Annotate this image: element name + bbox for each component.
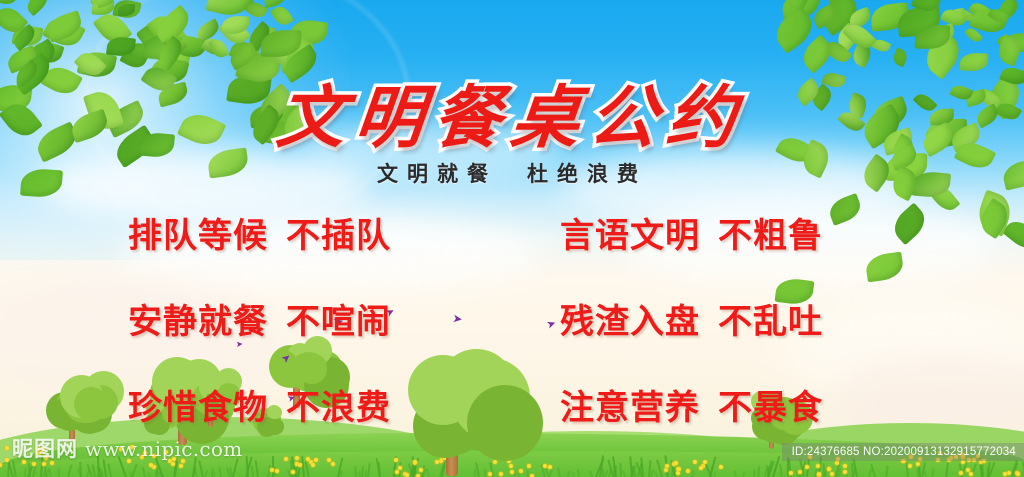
- flower-icon: [519, 469, 523, 473]
- flower-icon: [543, 464, 547, 468]
- slogan-main: 残渣入盘: [560, 303, 700, 341]
- watermark-id-line: ID:24376685 NO:20200913132915772034: [782, 443, 1024, 461]
- flower-icon: [548, 465, 552, 469]
- slogan-main: 言语文明: [560, 217, 700, 255]
- flower-icon: [5, 458, 9, 462]
- grass-blade: [514, 471, 516, 477]
- flower-icon: [676, 471, 680, 475]
- tree-foliage-blob: [74, 387, 108, 421]
- slogan-item: 安静就餐不喧闹: [128, 294, 502, 343]
- flower-icon: [665, 464, 669, 468]
- slogan-item: 排队等候不插队: [128, 208, 502, 257]
- flower-icon: [835, 461, 839, 465]
- flower-icon: [843, 464, 847, 468]
- slogan-main: 注意营养: [560, 389, 700, 427]
- watermark-site-url: www.nipic.com: [85, 437, 242, 461]
- flower-icon: [816, 464, 820, 468]
- cartoon-tree: [40, 370, 105, 442]
- flower-icon: [805, 465, 809, 469]
- grass-blade: [58, 468, 60, 477]
- slogan-sub: 不喧闹: [286, 303, 391, 341]
- flower-icon: [677, 467, 681, 471]
- flower-icon: [719, 465, 723, 469]
- flower-icon: [798, 470, 802, 474]
- flower-icon: [674, 461, 678, 465]
- flower-icon: [843, 470, 847, 474]
- flower-icon: [311, 463, 315, 467]
- flower-icon: [693, 460, 697, 464]
- slogan-item: 注意营养不暴食: [522, 380, 896, 429]
- flower-icon: [686, 469, 690, 473]
- flower-icon: [789, 471, 793, 475]
- flower-icon: [830, 472, 834, 476]
- flower-icon: [291, 470, 295, 474]
- grass-blade: [340, 470, 342, 477]
- flower-icon: [916, 462, 920, 466]
- flower-icon: [314, 458, 318, 462]
- flower-icon: [5, 446, 9, 450]
- flower-icon: [527, 464, 531, 468]
- slogan-main: 排队等候: [128, 217, 268, 255]
- grass-blade: [714, 471, 716, 477]
- flower-icon: [270, 468, 274, 472]
- flower-icon: [179, 464, 183, 468]
- flower-icon: [664, 468, 668, 472]
- slogan-sub: 不粗鲁: [718, 217, 823, 255]
- flower-icon: [908, 464, 912, 468]
- flower-icon: [969, 472, 973, 476]
- slogan-sub: 不插队: [286, 217, 391, 255]
- flower-icon: [298, 463, 302, 467]
- flower-icon: [959, 471, 963, 475]
- flower-icon: [284, 457, 288, 461]
- flower-icon: [295, 456, 299, 460]
- slogan-grid: 排队等候不插队 言语文明不粗鲁 安静就餐不喧闹 残渣入盘不乱吐 珍惜食物不浪费 …: [128, 208, 896, 429]
- flower-icon: [817, 472, 821, 476]
- grass-blade: [272, 456, 274, 477]
- flower-icon: [306, 457, 310, 461]
- slogan-item: 言语文明不粗鲁: [522, 208, 896, 257]
- flower-icon: [331, 462, 335, 466]
- grass-blade: [823, 463, 825, 477]
- slogan-item: 残渣入盘不乱吐: [522, 294, 896, 343]
- title-block: 文明餐桌公约: [0, 62, 1024, 161]
- watermark-site: 昵图网 www.nipic.com: [12, 433, 242, 463]
- slogan-main: 珍惜食物: [128, 389, 268, 427]
- poster-subtitle: 文明就餐 杜绝浪费: [0, 158, 1024, 188]
- slogan-item: 珍惜食物不浪费: [128, 380, 502, 429]
- flower-icon: [149, 463, 153, 467]
- flower-icon: [1003, 472, 1007, 476]
- poster-title: 文明餐桌公约: [273, 62, 751, 161]
- flower-icon: [275, 469, 279, 473]
- flower-icon: [827, 467, 831, 471]
- watermark-site-name: 昵图网: [12, 433, 78, 463]
- flower-icon: [1016, 472, 1020, 476]
- slogan-sub: 不浪费: [286, 389, 391, 427]
- poster-canvas: ➤ ➤ ➤ ➤ ➤ ➤ ➤ 文明餐桌公约 文明就餐 杜绝浪费 排队等候不插队 言…: [0, 0, 1024, 477]
- slogan-sub: 不暴食: [718, 389, 823, 427]
- flower-icon: [1007, 471, 1011, 475]
- flower-icon: [327, 458, 331, 462]
- slogan-main: 安静就餐: [128, 303, 268, 341]
- flower-icon: [703, 460, 707, 464]
- slogan-sub: 不乱吐: [718, 303, 823, 341]
- flower-icon: [699, 466, 703, 470]
